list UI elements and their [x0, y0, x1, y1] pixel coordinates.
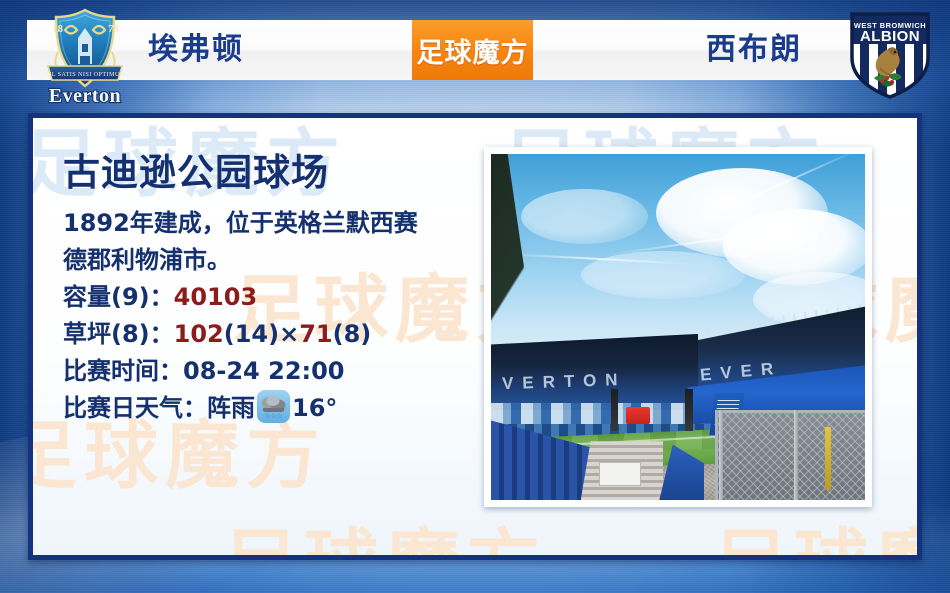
fence-post: [719, 410, 723, 500]
mesh-fence: [715, 410, 865, 500]
weather-icon-wrap: [255, 390, 292, 423]
match-time-row: 比赛时间：08-24 22:00: [63, 353, 483, 390]
match-time-value: 08-24 22:00: [183, 357, 345, 385]
pitch-multiply-symbol: ×: [279, 320, 299, 348]
weather-label: 比赛日天气：: [63, 394, 207, 422]
pitch-label: 草坪(8)：: [63, 320, 174, 348]
dark-post: [611, 389, 618, 431]
svg-text:78: 78: [108, 23, 120, 35]
pitch-length-value: 102: [174, 320, 224, 348]
west-bromwich-albion-crest-icon: WEST BROMWICH ALBION: [842, 6, 938, 102]
pitch-width-value: 71: [299, 320, 332, 348]
capacity-row: 容量(9)：40103: [63, 279, 483, 316]
weather-temperature: 16°: [292, 394, 337, 422]
stadium-name-title: 古迪逊公园球场: [63, 142, 483, 196]
svg-text:ALBION: ALBION: [860, 28, 920, 45]
red-equipment-box: [626, 407, 650, 424]
cloud: [521, 189, 648, 244]
site-logo-label: 足球魔方: [417, 31, 529, 70]
rain-cloud-icon: [257, 390, 290, 423]
watermark-text: 足球魔方: [223, 504, 547, 555]
stadium-photo-frame: VERTON EVER: [484, 147, 872, 507]
home-team-name: 埃弗顿: [148, 20, 244, 80]
match-time-label: 比赛时间：: [63, 357, 183, 385]
everton-crest-icon: NIL SATIS NISI OPTIMUM 18 78 Everton: [32, 4, 138, 110]
away-team-name: 西布朗: [706, 20, 802, 80]
capacity-value: 40103: [174, 283, 258, 311]
watermark-text: 足球魔方: [713, 504, 917, 555]
fence-post: [794, 410, 798, 500]
yellow-gate-bar: [825, 427, 831, 489]
capacity-label: 容量(9)：: [63, 283, 174, 311]
svg-text:NIL SATIS NISI OPTIMUM: NIL SATIS NISI OPTIMUM: [44, 71, 125, 78]
notice-sign: [599, 462, 640, 486]
svg-text:18: 18: [52, 23, 64, 35]
goodison-park-stadium-photo: VERTON EVER: [491, 154, 865, 500]
pitch-row: 草坪(8)：102(14)×71(8): [63, 316, 483, 353]
pitch-length-rating: (14): [224, 320, 279, 348]
svg-text:Everton: Everton: [49, 85, 121, 107]
stadium-info-panel: 足球魔方 足球魔方 足球魔方 足球魔方 足球魔方 足球魔方 足球魔方 足球魔方 …: [28, 113, 922, 560]
stadium-details: 古迪逊公园球场 1892年建成，位于英格兰默西赛 德郡利物浦市。 容量(9)：4…: [63, 142, 483, 427]
match-header: 足球魔方 埃弗顿 西布朗: [0, 20, 950, 80]
weather-condition: 阵雨: [207, 394, 255, 422]
stadium-description-line-1: 1892年建成，位于英格兰默西赛: [63, 205, 483, 242]
stadium-description-line-2: 德郡利物浦市。: [63, 242, 483, 279]
pitch-width-rating: (8): [333, 320, 372, 348]
weather-row: 比赛日天气：阵雨 16°: [63, 390, 483, 427]
dark-post: [685, 389, 692, 431]
site-logo-badge[interactable]: 足球魔方: [412, 20, 533, 80]
